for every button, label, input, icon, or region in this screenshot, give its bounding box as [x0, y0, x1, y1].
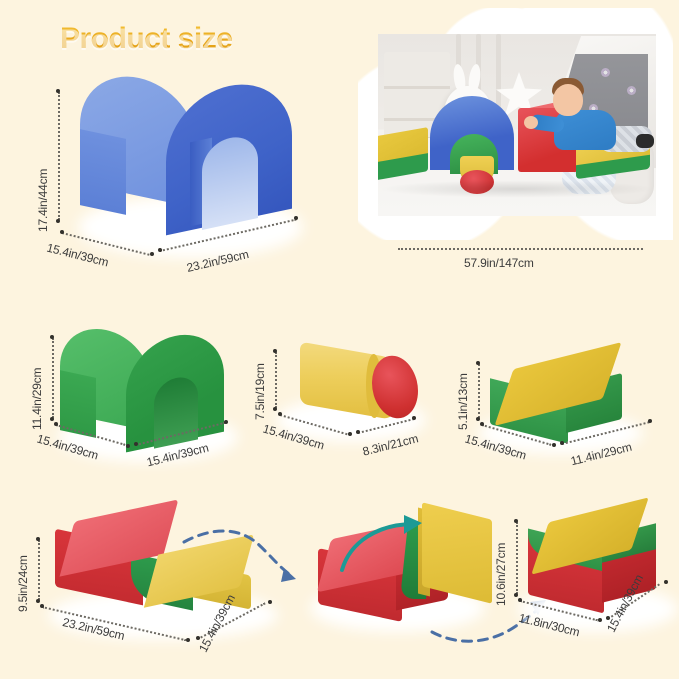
ramp-height-line: [38, 540, 40, 600]
dot: [40, 604, 44, 608]
dot: [476, 361, 480, 365]
slab-height-label: 5.1in/13cm: [456, 373, 470, 430]
child-playing-photo: [378, 34, 656, 216]
green-arch-tunnel: [60, 330, 225, 448]
child-body: [554, 110, 616, 150]
dot: [278, 412, 282, 416]
dot: [552, 443, 556, 447]
dot: [158, 248, 162, 252]
dot: [56, 219, 60, 223]
dot: [480, 422, 484, 426]
slab-height-line: [478, 364, 480, 418]
dot: [36, 537, 40, 541]
cube-height-line: [516, 522, 518, 594]
dot: [186, 638, 190, 642]
photo-total-width-label: 57.9in/147cm: [464, 256, 534, 270]
dot: [50, 335, 54, 339]
child-head: [553, 84, 583, 116]
ramp-height-label: 9.5in/24cm: [16, 555, 30, 612]
dot: [36, 599, 40, 603]
dot: [273, 407, 277, 411]
dot: [273, 349, 277, 353]
stacked-cube-result: [528, 512, 664, 620]
cylinder-height-label: 7.5in/19cm: [253, 363, 267, 420]
floor-shadow: [378, 180, 656, 198]
dot: [518, 598, 522, 602]
infographic-canvas: Product size 17.4in/44cm 15.4in/39cm 23.…: [0, 0, 679, 679]
dot: [56, 89, 60, 93]
dot: [54, 422, 58, 426]
dot: [126, 444, 130, 448]
dot: [348, 432, 352, 436]
flower-motif: [601, 68, 610, 77]
dot: [268, 600, 272, 604]
blue-arch-tunnel: [80, 78, 290, 228]
page-title: Product size: [60, 22, 232, 56]
cube-height-label: 10.6in/27cm: [494, 543, 508, 606]
blue-tunnel-left-face: [80, 129, 126, 215]
dot: [476, 417, 480, 421]
child-hand: [524, 116, 538, 129]
dot: [412, 416, 416, 420]
lifestyle-photo-cloud: [358, 8, 673, 240]
dot: [294, 216, 298, 220]
dot: [664, 580, 668, 584]
transform-arrow-1: [180, 520, 320, 600]
dot: [560, 441, 564, 445]
dot: [60, 230, 64, 234]
rotate-arrow: [336, 512, 446, 582]
green-tunnel-height-label: 11.4in/29cm: [30, 368, 44, 430]
photo-total-width-line: [398, 248, 643, 250]
dot: [514, 593, 518, 597]
green-tunnel-height-line: [52, 338, 54, 418]
dot: [514, 519, 518, 523]
flower-motif: [627, 86, 636, 95]
shelf-line: [384, 86, 450, 89]
dot: [134, 442, 138, 446]
dot: [224, 420, 228, 424]
cylinder-height-line: [275, 352, 277, 408]
dot: [356, 430, 360, 434]
dot: [648, 419, 652, 423]
blue-tunnel-height-line: [58, 92, 60, 220]
dot: [50, 417, 54, 421]
child-foot: [636, 134, 654, 148]
dot: [598, 618, 602, 622]
dot: [150, 252, 154, 256]
blue-tunnel-height-label: 17.4in/44cm: [36, 169, 50, 232]
